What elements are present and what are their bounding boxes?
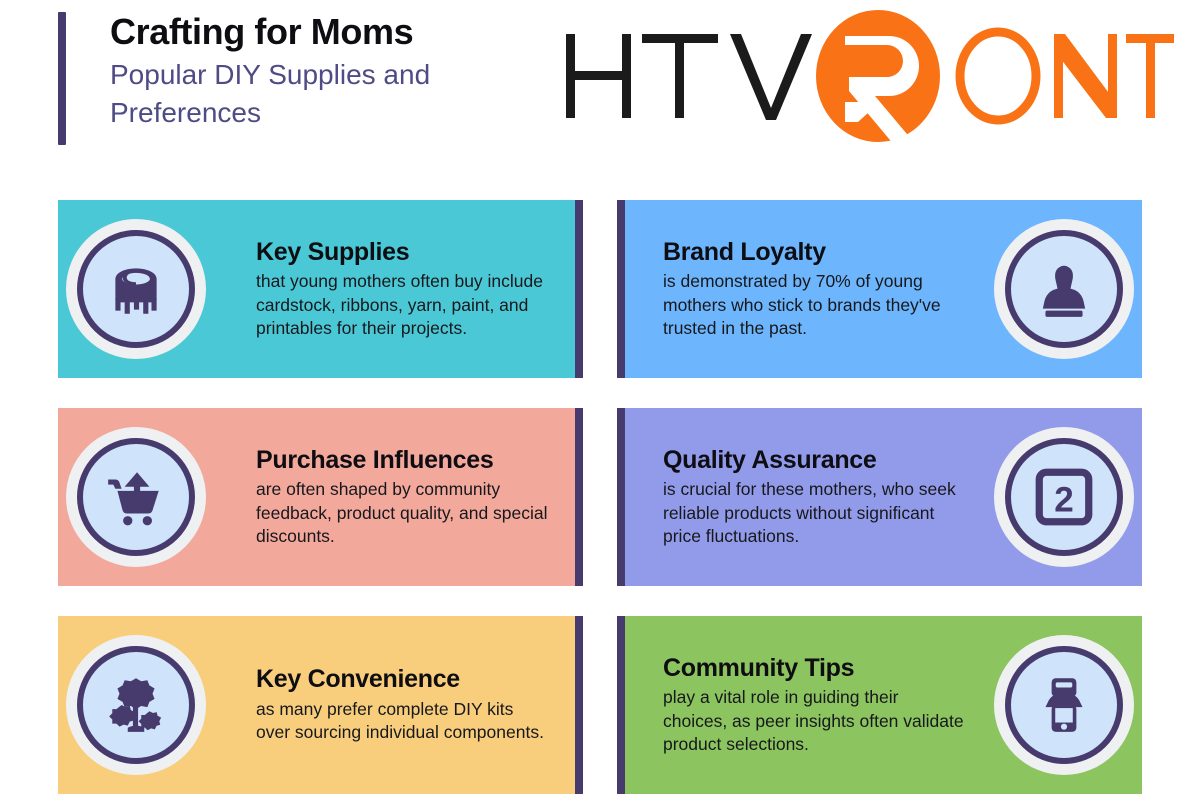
page-subtitle: Popular DIY Supplies and Preferences bbox=[110, 56, 540, 132]
card-heading: Key Supplies bbox=[256, 238, 549, 267]
card-edge-stripe bbox=[617, 200, 625, 378]
card-text: Key Supplies that young mothers often bu… bbox=[256, 238, 575, 341]
stamp-icon bbox=[1031, 256, 1097, 322]
medallion-inner bbox=[77, 646, 195, 764]
title-block: Crafting for Moms Popular DIY Supplies a… bbox=[58, 12, 540, 145]
card-brand-loyalty[interactable]: Brand Loyalty is demonstrated by 70% of … bbox=[617, 200, 1142, 378]
header: Crafting for Moms Popular DIY Supplies a… bbox=[0, 0, 1200, 165]
logo-ont-letters bbox=[960, 32, 1174, 120]
medallion-inner bbox=[1005, 230, 1123, 348]
shopping-cart-up-arrow-icon bbox=[103, 464, 169, 530]
card-text: Key Convenience as many prefer complete … bbox=[256, 665, 575, 744]
svg-text:2: 2 bbox=[1054, 480, 1074, 519]
card-icon-medallion bbox=[66, 635, 206, 775]
medallion-inner bbox=[77, 230, 195, 348]
card-quality-assurance[interactable]: Quality Assurance is crucial for these m… bbox=[617, 408, 1142, 586]
htvront-logo bbox=[560, 8, 1180, 148]
card-heading: Quality Assurance bbox=[663, 446, 966, 475]
card-key-convenience[interactable]: Key Convenience as many prefer complete … bbox=[58, 616, 583, 794]
card-text: Purchase Influences are often shaped by … bbox=[256, 446, 575, 549]
tape-roll-icon bbox=[103, 256, 169, 322]
card-description: are often shaped by community feedback, … bbox=[256, 478, 549, 548]
card-description: that young mothers often buy include car… bbox=[256, 270, 549, 340]
medallion-inner: 2 bbox=[1005, 438, 1123, 556]
card-community-tips[interactable]: Community Tips play a vital role in guid… bbox=[617, 616, 1142, 794]
page-title: Crafting for Moms bbox=[110, 12, 540, 52]
medallion-inner bbox=[1005, 646, 1123, 764]
card-icon-medallion: 2 bbox=[994, 427, 1134, 567]
card-description: play a vital role in guiding their choic… bbox=[663, 686, 966, 756]
card-key-supplies[interactable]: Key Supplies that young mothers often bu… bbox=[58, 200, 583, 378]
card-edge-stripe bbox=[617, 408, 625, 586]
card-icon-medallion bbox=[994, 219, 1134, 359]
card-description: is crucial for these mothers, who seek r… bbox=[663, 478, 966, 548]
card-edge-stripe bbox=[575, 200, 583, 378]
medallion-inner bbox=[77, 438, 195, 556]
card-heading: Purchase Influences bbox=[256, 446, 549, 475]
card-purchase-influences[interactable]: Purchase Influences are often shaped by … bbox=[58, 408, 583, 586]
card-icon-medallion bbox=[66, 219, 206, 359]
card-heading: Key Convenience bbox=[256, 665, 549, 694]
card-heading: Brand Loyalty bbox=[663, 238, 966, 267]
title-accent-bar bbox=[58, 12, 66, 145]
card-edge-stripe bbox=[575, 408, 583, 586]
card-description: as many prefer complete DIY kits over so… bbox=[256, 698, 549, 745]
card-edge-stripe bbox=[575, 616, 583, 794]
card-description: is demonstrated by 70% of young mothers … bbox=[663, 270, 966, 340]
card-icon-medallion bbox=[994, 635, 1134, 775]
card-heading: Community Tips bbox=[663, 654, 966, 683]
card-edge-stripe bbox=[617, 616, 625, 794]
title-text-group: Crafting for Moms Popular DIY Supplies a… bbox=[110, 12, 540, 145]
htvront-logo-svg bbox=[560, 8, 1180, 148]
tree-icon bbox=[103, 672, 169, 738]
number-two-square-icon: 2 bbox=[1031, 464, 1097, 530]
infographic-page: Crafting for Moms Popular DIY Supplies a… bbox=[0, 0, 1200, 796]
card-icon-medallion bbox=[66, 427, 206, 567]
mobile-phone-icon bbox=[1031, 672, 1097, 738]
cards-grid: Key Supplies that young mothers often bu… bbox=[0, 196, 1200, 796]
logo-htv-letters bbox=[566, 34, 812, 120]
